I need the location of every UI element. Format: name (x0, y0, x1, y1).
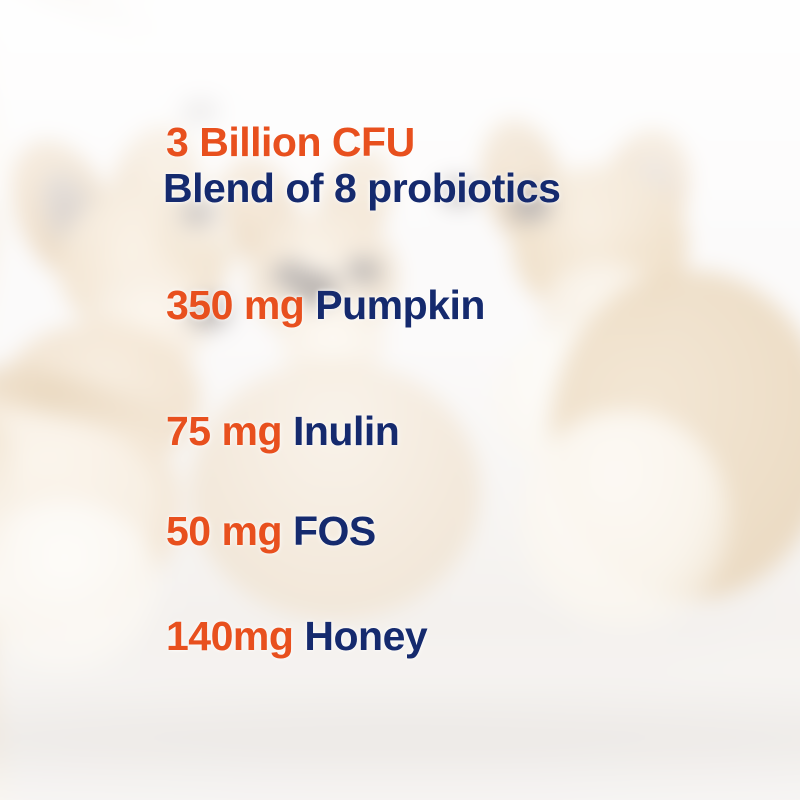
ingredient-list: 3 Billion CFU Blend of 8 probiotics 350 … (0, 0, 800, 800)
pumpkin-spacer (304, 282, 315, 328)
inulin-spacer (282, 408, 293, 454)
ingredient-line-fos: 50 mg FOS (166, 511, 376, 552)
honey-spacer (293, 613, 304, 659)
ingredient-line-inulin: 75 mg Inulin (166, 411, 399, 452)
probiotics-amount-text: 3 Billion CFU (166, 119, 415, 165)
fos-label-text: FOS (293, 508, 376, 554)
ingredient-line-probiotics-label: Blend of 8 probiotics (163, 168, 560, 209)
pumpkin-label-text: Pumpkin (315, 282, 485, 328)
fos-amount-text: 50 mg (166, 508, 282, 554)
ingredient-line-pumpkin: 350 mg Pumpkin (166, 285, 485, 326)
pumpkin-amount-text: 350 mg (166, 282, 304, 328)
honey-amount-text: 140mg (166, 613, 293, 659)
probiotics-label-text: Blend of 8 probiotics (163, 165, 560, 211)
fos-spacer (282, 508, 293, 554)
inulin-amount-text: 75 mg (166, 408, 282, 454)
ingredient-line-honey: 140mg Honey (166, 616, 427, 657)
honey-label-text: Honey (304, 613, 427, 659)
product-ingredient-panel: 3 Billion CFU Blend of 8 probiotics 350 … (0, 0, 800, 800)
inulin-label-text: Inulin (293, 408, 399, 454)
ingredient-line-probiotics-amount: 3 Billion CFU (166, 122, 415, 163)
